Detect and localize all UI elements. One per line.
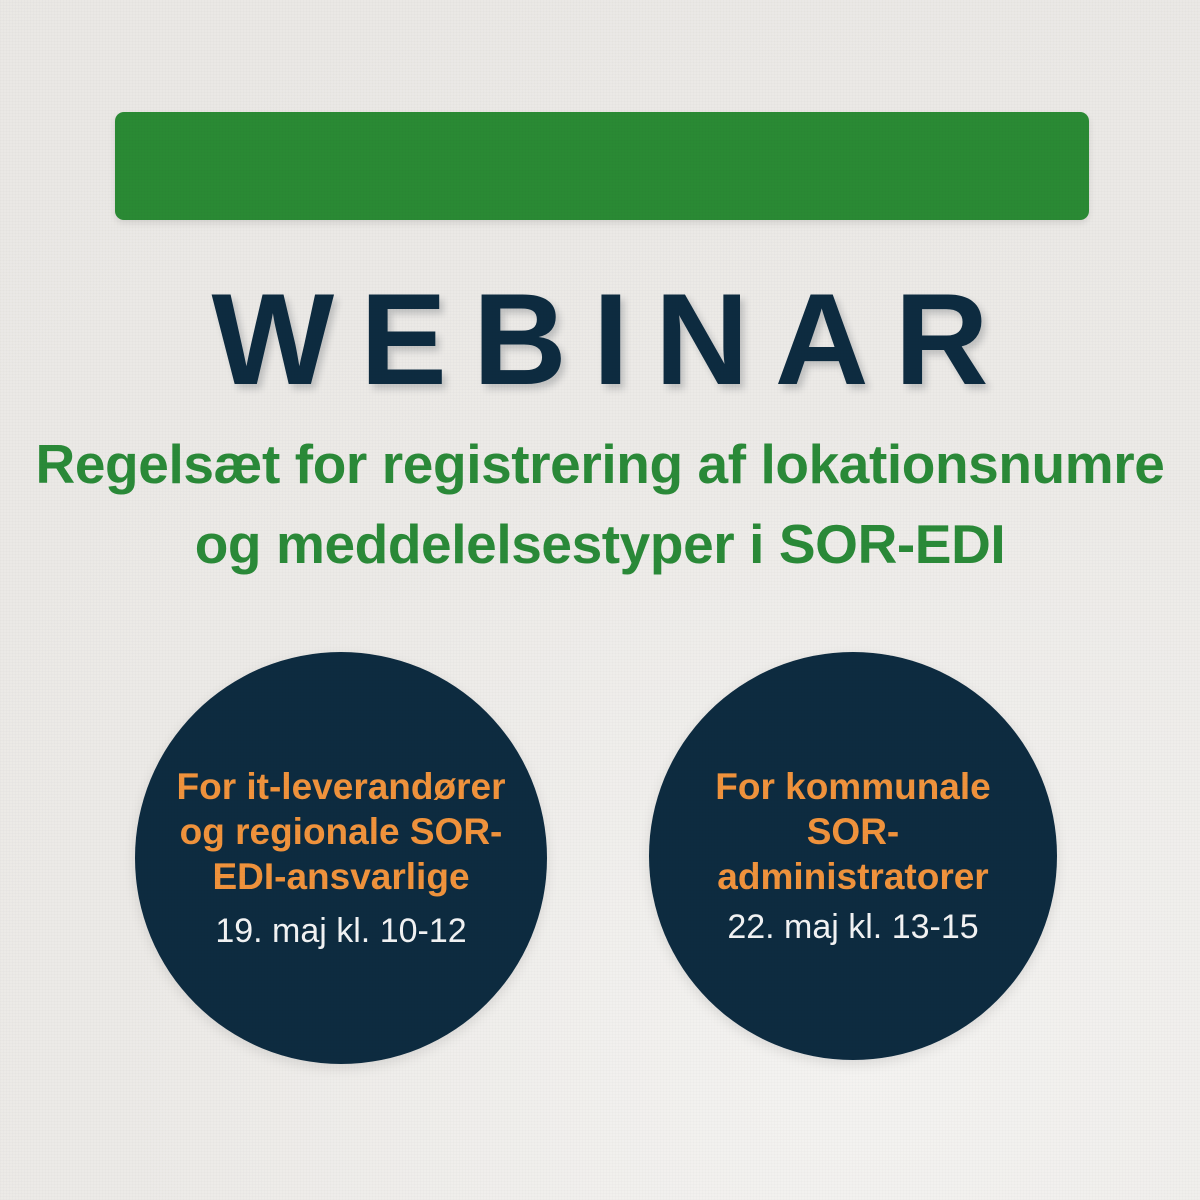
webinar-poster: WEBINAR Regelsæt for registrering af lok… [0,0,1200,1200]
session-date: 22. maj kl. 13-15 [707,905,998,949]
session-heading: For kommunale SOR-administratorer [649,764,1057,899]
subtitle-line-1: Regelsæt for registrering af lokationsnu… [0,424,1200,504]
subtitle-block: Regelsæt for registrering af lokationsnu… [0,424,1200,584]
session-badge-kommunale-sor-administratorer: For kommunale SOR-administratorer 22. ma… [649,652,1057,1060]
green-banner-bar [115,112,1089,220]
session-date: 19. maj kl. 10-12 [195,909,486,953]
session-badge-it-leverandoerer: For it-leverandører og regionale SOR-EDI… [135,652,547,1064]
page-title: WEBINAR [0,274,1200,404]
subtitle-line-2: og meddelelsestyper i SOR-EDI [0,504,1200,584]
session-heading: For it-leverandører og regionale SOR-EDI… [135,764,547,899]
